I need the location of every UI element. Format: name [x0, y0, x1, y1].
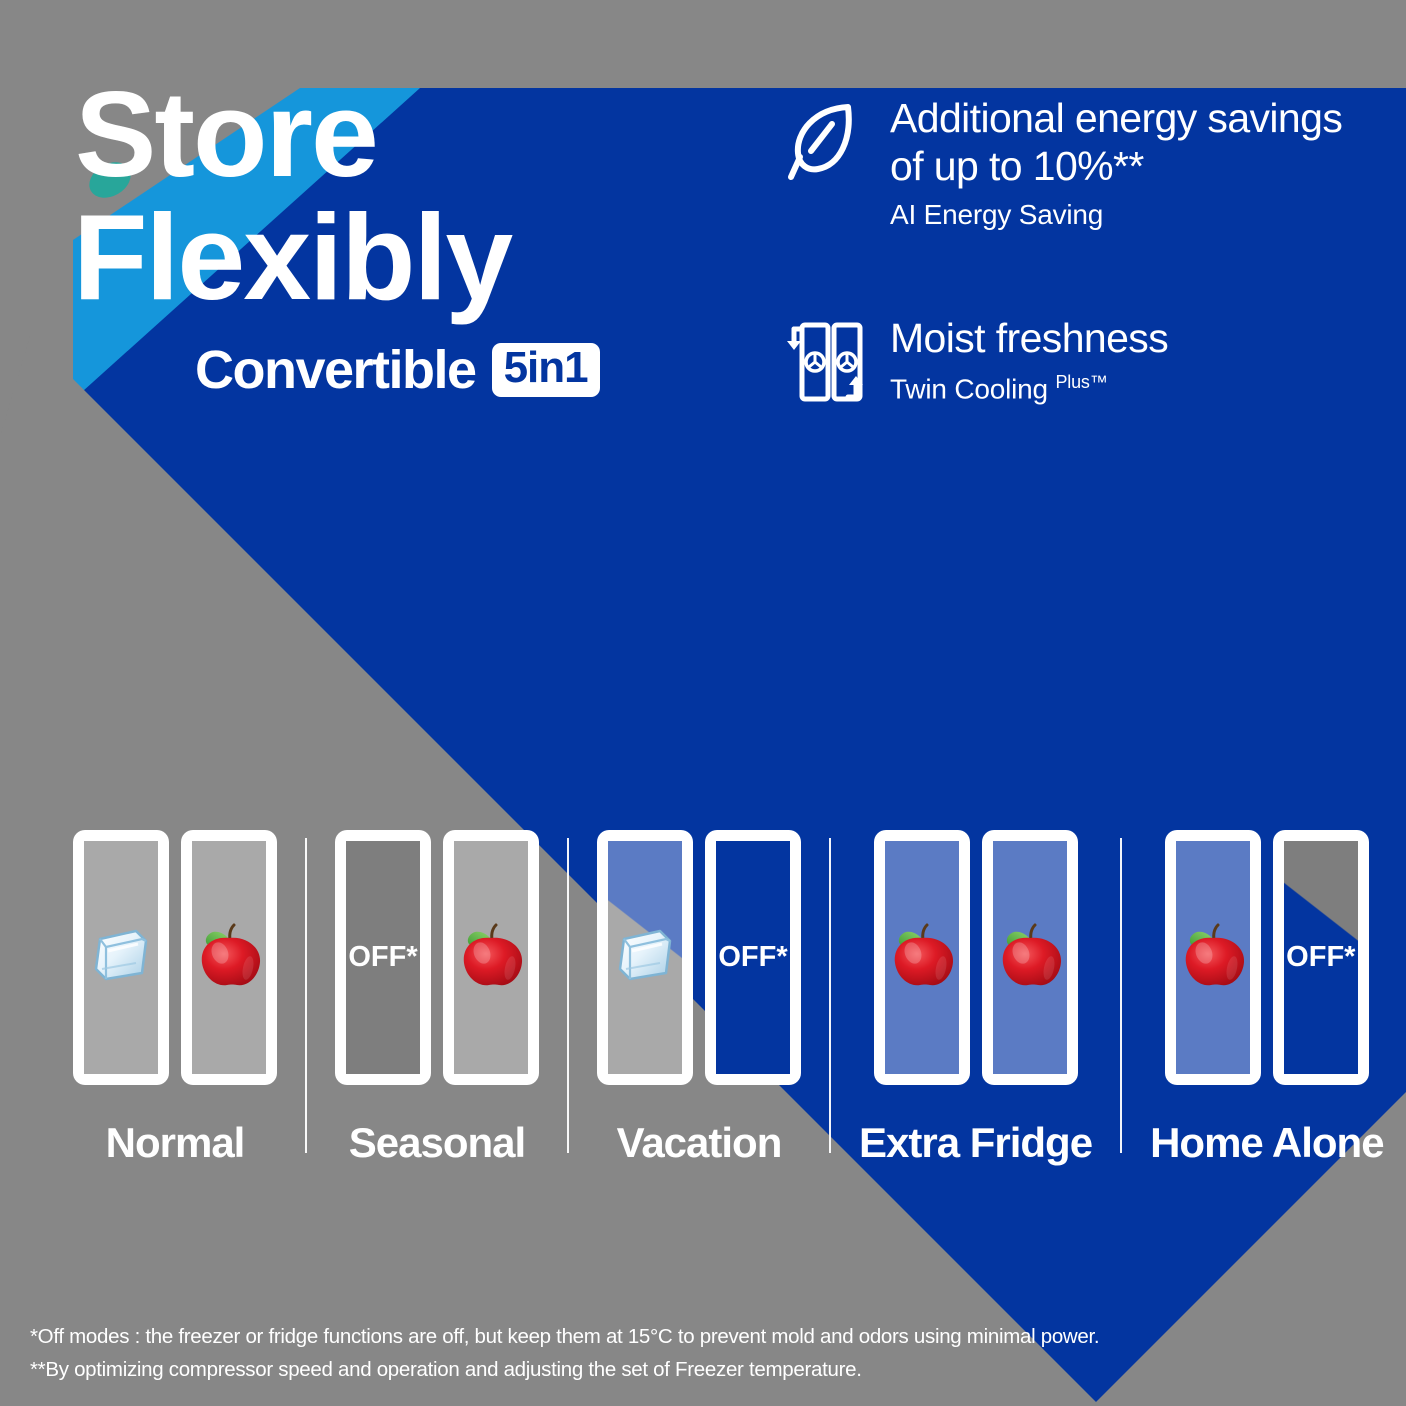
- off-label: OFF*: [1286, 941, 1355, 974]
- door-right[interactable]: OFF*: [1273, 830, 1369, 1085]
- badge-5in1: 5in1: [492, 343, 600, 396]
- convertible-row: Convertible 5in1: [195, 339, 773, 401]
- mode-label: Seasonal: [349, 1119, 525, 1167]
- off-label: OFF*: [348, 941, 417, 974]
- door-inner: OFF*: [1284, 841, 1358, 1074]
- apple-icon: [193, 921, 265, 994]
- door-inner: [454, 841, 528, 1074]
- mode-home-alone[interactable]: OFF*Home Alone: [1150, 830, 1383, 1167]
- door-left[interactable]: [874, 830, 970, 1085]
- mode-extra-fridge[interactable]: Extra Fridge: [859, 830, 1092, 1167]
- convertible-label: Convertible: [195, 339, 476, 401]
- feature-energy-subtitle: AI Energy Saving: [890, 199, 1346, 231]
- feature-moist-title: Moist freshness: [890, 315, 1168, 363]
- mode-doors: [73, 830, 277, 1085]
- footnotes: *Off modes : the freezer or fridge funct…: [30, 1320, 1099, 1386]
- door-right[interactable]: [181, 830, 277, 1085]
- door-left[interactable]: [1165, 830, 1261, 1085]
- ice-cube-icon: [90, 925, 152, 990]
- mode-doors: OFF*: [597, 830, 801, 1085]
- modes-row: NormalOFF* Seasonal: [0, 830, 1406, 1167]
- feature-energy-saving: Additional energy savings of up to 10%**…: [786, 95, 1346, 231]
- mode-divider: [567, 838, 569, 1153]
- mode-divider: [829, 838, 831, 1153]
- headline-block: Store Flexibly Convertible 5in1: [73, 78, 773, 401]
- mode-normal[interactable]: Normal: [73, 830, 277, 1167]
- mode-doors: OFF*: [1165, 830, 1369, 1085]
- off-label: OFF*: [718, 941, 787, 974]
- door-right[interactable]: [982, 830, 1078, 1085]
- mode-label: Extra Fridge: [859, 1119, 1092, 1167]
- mode-doors: OFF*: [335, 830, 539, 1085]
- footnote-line-2: **By optimizing compressor speed and ope…: [30, 1353, 1099, 1386]
- modes-section: NormalOFF* Seasonal: [0, 830, 1406, 1167]
- door-inner: [192, 841, 266, 1074]
- headline-line-flexibly: Flexibly: [73, 201, 773, 314]
- mode-label: Vacation: [617, 1119, 782, 1167]
- mode-doors: [874, 830, 1078, 1085]
- door-inner: [608, 841, 682, 1074]
- mode-label: Home Alone: [1150, 1119, 1383, 1167]
- feature-moist-freshness: Moist freshness Twin Cooling Plus™: [786, 315, 1346, 410]
- mode-divider: [1120, 838, 1122, 1153]
- feature-moist-subtitle: Twin Cooling Plus™: [890, 372, 1168, 405]
- mode-vacation[interactable]: OFF*Vacation: [597, 830, 801, 1167]
- headline-line-store: Store: [75, 78, 773, 191]
- door-inner: [84, 841, 158, 1074]
- feature-moist-subtitle-text: Twin Cooling: [890, 373, 1055, 404]
- apple-icon: [455, 921, 527, 994]
- door-inner: OFF*: [346, 841, 420, 1074]
- door-inner: [885, 841, 959, 1074]
- feature-energy-subtitle-text: AI Energy Saving: [890, 199, 1103, 230]
- door-inner: [993, 841, 1067, 1074]
- twin-cooling-icon: [786, 315, 864, 410]
- ice-cube-icon: [614, 925, 676, 990]
- door-left[interactable]: [597, 830, 693, 1085]
- apple-icon: [994, 921, 1066, 994]
- footnote-line-1: *Off modes : the freezer or fridge funct…: [30, 1320, 1099, 1353]
- leaf-icon: [786, 95, 864, 186]
- door-right[interactable]: [443, 830, 539, 1085]
- door-inner: OFF*: [716, 841, 790, 1074]
- door-left[interactable]: [73, 830, 169, 1085]
- mode-divider: [305, 838, 307, 1153]
- mode-label: Normal: [106, 1119, 245, 1167]
- feature-energy-title: Additional energy savings of up to 10%**: [890, 95, 1346, 190]
- apple-icon: [886, 921, 958, 994]
- feature-moist-subtitle-sup: Plus™: [1055, 372, 1107, 392]
- feature-callouts: Additional energy savings of up to 10%**…: [786, 95, 1346, 410]
- feature-moist-text: Moist freshness Twin Cooling Plus™: [890, 315, 1168, 405]
- door-right[interactable]: OFF*: [705, 830, 801, 1085]
- mode-seasonal[interactable]: OFF* Seasonal: [335, 830, 539, 1167]
- apple-icon: [1177, 921, 1249, 994]
- feature-energy-text: Additional energy savings of up to 10%**…: [890, 95, 1346, 231]
- door-left[interactable]: OFF*: [335, 830, 431, 1085]
- door-inner: [1176, 841, 1250, 1074]
